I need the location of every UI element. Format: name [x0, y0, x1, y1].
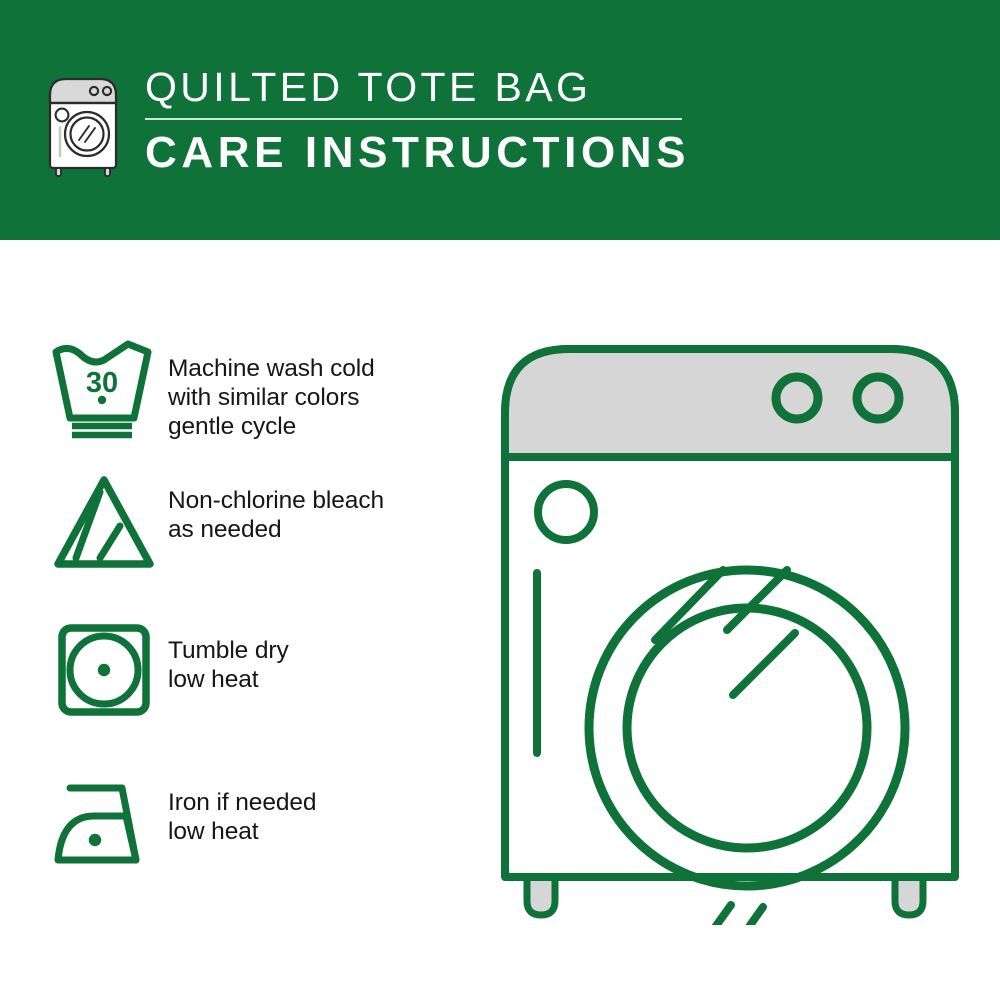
care-instructions-page: QUILTED TOTE BAG CARE INSTRUCTIONS 30 — [0, 0, 1000, 1000]
front-load-washing-machine-illustration — [495, 335, 975, 925]
control-panel — [509, 353, 951, 457]
care-icon-cell — [50, 622, 168, 722]
page-title: CARE INSTRUCTIONS — [145, 127, 745, 179]
care-item-text: Iron if needed low heat — [168, 788, 470, 846]
care-item-text: Machine wash cold with similar colors ge… — [168, 354, 470, 441]
title-divider — [145, 118, 682, 120]
care-icon-cell — [50, 472, 168, 572]
wash-tub-30-gentle-icon: 30 — [50, 340, 158, 440]
non-chlorine-bleach-triangle-icon — [50, 472, 158, 572]
care-item-text: Non-chlorine bleach as needed — [168, 486, 470, 544]
care-item-text: Tumble dry low heat — [168, 636, 470, 694]
care-item-bleach: Non-chlorine bleach as needed — [50, 472, 470, 622]
header-band: QUILTED TOTE BAG CARE INSTRUCTIONS — [0, 0, 1000, 240]
header-content: QUILTED TOTE BAG CARE INSTRUCTIONS — [44, 62, 744, 182]
product-title: QUILTED TOTE BAG — [145, 62, 745, 112]
care-text-cell: Non-chlorine bleach as needed — [168, 472, 470, 544]
iron-low-heat-icon — [50, 774, 158, 874]
care-item-tumble-dry: Tumble dry low heat — [50, 622, 470, 774]
wash-temperature-label: 30 — [86, 367, 118, 399]
care-text-cell: Tumble dry low heat — [168, 622, 470, 694]
washing-machine-icon — [44, 70, 130, 180]
care-item-machine-wash: 30 Machine wash cold with similar colors… — [50, 340, 470, 472]
tumble-dry-low-heat-icon — [50, 622, 158, 722]
header-title-group: QUILTED TOTE BAG CARE INSTRUCTIONS — [145, 62, 745, 179]
care-item-iron: Iron if needed low heat — [50, 774, 470, 894]
care-instruction-list: 30 Machine wash cold with similar colors… — [50, 340, 470, 894]
care-text-cell: Machine wash cold with similar colors ge… — [168, 340, 470, 441]
door-shine-lines — [657, 905, 800, 925]
care-text-cell: Iron if needed low heat — [168, 774, 470, 846]
care-icon-cell — [50, 774, 168, 874]
care-icon-cell: 30 — [50, 340, 168, 440]
